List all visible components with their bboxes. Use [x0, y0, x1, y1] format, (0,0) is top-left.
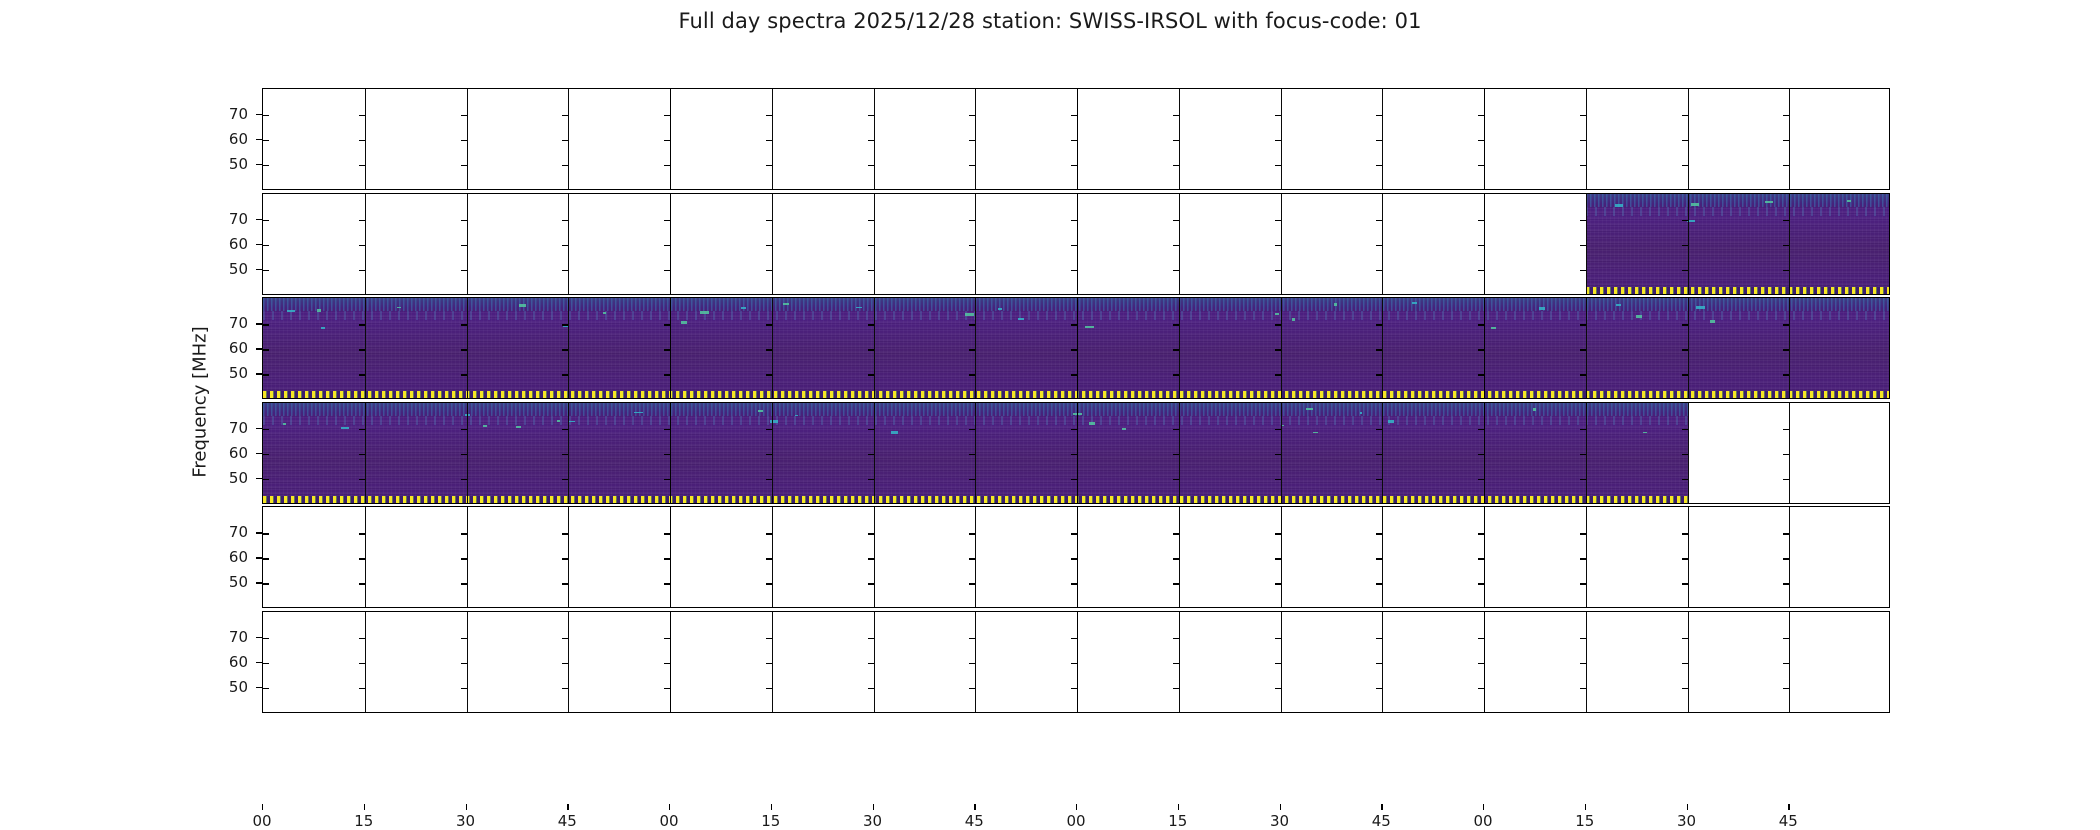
- y-tick-mark: [868, 583, 874, 584]
- y-tick-mark: [766, 688, 772, 689]
- y-tick-mark: [766, 270, 772, 271]
- y-tick-mark: [1478, 140, 1484, 141]
- y-tick-mark: [1682, 349, 1688, 350]
- y-tick-mark: [461, 165, 467, 166]
- y-tick-mark: [1478, 533, 1484, 534]
- cell-separator: [1484, 612, 1485, 712]
- y-tick-mark: [1783, 349, 1789, 350]
- y-tick-mark: [1478, 583, 1484, 584]
- cell-separator: [1382, 403, 1383, 503]
- spectral-burst-marker: [1275, 313, 1280, 316]
- spectral-burst-marker: [317, 309, 320, 312]
- y-tick-mark: [1071, 533, 1077, 534]
- y-tick-mark: [562, 638, 568, 639]
- y-tick-mark: [1478, 245, 1484, 246]
- y-tick-mark: [664, 583, 670, 584]
- y-tick-mark: [868, 349, 874, 350]
- cell-separator: [772, 89, 773, 189]
- cell-separator: [1789, 89, 1790, 189]
- cell-separator: [1586, 507, 1587, 607]
- spectral-burst-marker: [1533, 408, 1536, 410]
- y-tick-mark: [664, 374, 670, 375]
- y-tick-mark: [1682, 115, 1688, 116]
- y-tick-mark: [1580, 165, 1586, 166]
- y-tick-mark: [868, 558, 874, 559]
- cell-separator: [365, 194, 366, 294]
- y-tick-mark: [1275, 533, 1281, 534]
- cell-separator: [1688, 298, 1689, 398]
- cell-separator: [568, 507, 569, 607]
- cell-separator: [1281, 507, 1282, 607]
- y-tick-mark: [1580, 115, 1586, 116]
- y-tick-mark: [969, 220, 975, 221]
- cell-separator: [1179, 507, 1180, 607]
- y-tick-mark: [562, 324, 568, 325]
- y-tick-mark: [263, 270, 269, 271]
- spectral-burst-marker: [634, 412, 643, 413]
- y-tick-mark: [1071, 165, 1077, 166]
- cell-separator: [874, 194, 875, 294]
- y-tick-mark: [263, 115, 269, 116]
- cell-separator: [1281, 612, 1282, 712]
- y-tick-mark: [562, 688, 568, 689]
- cell-separator: [1688, 89, 1689, 189]
- spectral-burst-marker: [1360, 412, 1362, 414]
- y-tick-mark: [766, 324, 772, 325]
- y-tick-mark: [1682, 140, 1688, 141]
- y-tick-mark: [1478, 638, 1484, 639]
- x-tick-mark: [974, 804, 975, 810]
- cell-separator: [1382, 612, 1383, 712]
- y-tick-mark: [1275, 140, 1281, 141]
- y-tick-mark: [359, 140, 365, 141]
- y-tick-mark: [562, 115, 568, 116]
- y-tick-mark: [1173, 115, 1179, 116]
- y-tick-mark: [359, 270, 365, 271]
- y-tick-mark: [1275, 638, 1281, 639]
- y-tick-mark: [1173, 220, 1179, 221]
- y-tick-mark: [664, 115, 670, 116]
- y-tick-mark: [1478, 429, 1484, 430]
- cell-separator: [1179, 89, 1180, 189]
- spectral-burst-marker: [758, 410, 763, 412]
- secondary-band: [1586, 207, 1890, 216]
- y-tick-mark: [868, 374, 874, 375]
- x-tick-label: 00: [242, 812, 282, 830]
- spectral-burst-marker: [483, 425, 487, 427]
- y-tick-mark: [766, 663, 772, 664]
- y-tick-mark: [1783, 165, 1789, 166]
- cell-separator: [1077, 89, 1078, 189]
- spectral-burst-marker: [1710, 320, 1715, 322]
- cell-separator: [1586, 194, 1587, 294]
- y-tick-mark: [1275, 324, 1281, 325]
- cell-separator: [467, 298, 468, 398]
- x-tick-mark: [1687, 804, 1688, 810]
- y-tick-mark: [664, 479, 670, 480]
- spectral-burst-marker: [603, 312, 606, 314]
- y-tick-mark: [359, 638, 365, 639]
- cell-separator: [975, 403, 976, 503]
- cell-separator: [975, 507, 976, 607]
- y-tick-mark: [1173, 663, 1179, 664]
- y-tick-mark: [1478, 558, 1484, 559]
- spectral-burst-marker: [516, 426, 520, 427]
- y-tick-mark: [1173, 270, 1179, 271]
- cell-separator: [1077, 298, 1078, 398]
- y-tick-mark: [1275, 349, 1281, 350]
- cell-separator: [1688, 612, 1689, 712]
- y-tick-mark: [1376, 140, 1382, 141]
- y-tick-mark: [1376, 349, 1382, 350]
- y-tick-mark-outer: [256, 453, 262, 454]
- y-tick-label: 70: [208, 628, 248, 646]
- y-tick-label: 50: [208, 469, 248, 487]
- y-tick-mark: [1682, 270, 1688, 271]
- y-tick-mark: [359, 479, 365, 480]
- y-tick-mark-outer: [256, 637, 262, 638]
- y-tick-mark: [359, 349, 365, 350]
- cell-separator: [1586, 298, 1587, 398]
- y-tick-mark: [1376, 165, 1382, 166]
- y-tick-mark: [969, 454, 975, 455]
- y-tick-mark: [1071, 583, 1077, 584]
- cell-separator: [1789, 298, 1790, 398]
- y-tick-mark: [1275, 688, 1281, 689]
- y-tick-mark: [1173, 558, 1179, 559]
- cell-separator: [1077, 194, 1078, 294]
- spectral-burst-marker: [1388, 420, 1394, 423]
- cell-separator: [1382, 507, 1383, 607]
- y-tick-mark: [461, 374, 467, 375]
- y-tick-mark: [1682, 324, 1688, 325]
- cell-separator: [1382, 89, 1383, 189]
- y-tick-mark-outer: [256, 428, 262, 429]
- y-tick-mark: [1783, 688, 1789, 689]
- y-tick-mark: [263, 220, 269, 221]
- cell-separator: [467, 403, 468, 503]
- x-tick-mark: [1585, 804, 1586, 810]
- y-tick-mark: [1580, 349, 1586, 350]
- x-tick-label: 15: [1158, 812, 1198, 830]
- y-tick-mark: [664, 533, 670, 534]
- y-tick-mark: [1275, 429, 1281, 430]
- y-tick-mark: [969, 479, 975, 480]
- y-tick-mark: [1580, 429, 1586, 430]
- cell-separator: [874, 298, 875, 398]
- page-title: Full day spectra 2025/12/28 station: SWI…: [0, 9, 2100, 33]
- spectrogram-row: [262, 506, 1890, 608]
- x-tick-label: 00: [1463, 812, 1503, 830]
- plot-area: Frequency [MHz] 706050706050706050706050…: [262, 88, 1890, 716]
- spectral-burst-marker: [321, 327, 325, 329]
- cell-separator: [670, 612, 671, 712]
- y-tick-mark: [1275, 558, 1281, 559]
- y-tick-mark: [1376, 454, 1382, 455]
- y-tick-mark: [1783, 533, 1789, 534]
- cell-separator: [1789, 507, 1790, 607]
- spectrogram-row: [262, 193, 1890, 295]
- y-tick-mark: [1783, 583, 1789, 584]
- cell-separator: [1281, 89, 1282, 189]
- y-tick-mark: [1275, 454, 1281, 455]
- y-tick-mark: [1682, 220, 1688, 221]
- figure-canvas: Full day spectra 2025/12/28 station: SWI…: [0, 0, 2100, 800]
- y-tick-label: 50: [208, 260, 248, 278]
- y-tick-mark: [461, 558, 467, 559]
- y-tick-mark: [1275, 115, 1281, 116]
- y-tick-mark: [766, 479, 772, 480]
- cell-separator: [568, 194, 569, 294]
- y-tick-mark: [562, 349, 568, 350]
- spectral-burst-marker: [283, 423, 286, 425]
- y-tick-mark: [969, 688, 975, 689]
- y-tick-mark: [1071, 374, 1077, 375]
- y-tick-mark: [1783, 479, 1789, 480]
- spectral-burst-marker: [1615, 204, 1623, 207]
- y-tick-mark: [1783, 245, 1789, 246]
- y-tick-mark: [1783, 140, 1789, 141]
- spectral-burst-marker: [795, 415, 798, 416]
- cell-separator: [467, 612, 468, 712]
- y-tick-mark: [1478, 349, 1484, 350]
- y-tick-mark: [1275, 245, 1281, 246]
- y-tick-mark: [664, 270, 670, 271]
- y-tick-mark: [1071, 270, 1077, 271]
- y-tick-mark: [263, 140, 269, 141]
- y-tick-mark: [1478, 270, 1484, 271]
- spectral-burst-marker: [1089, 422, 1095, 425]
- y-tick-mark: [969, 115, 975, 116]
- y-tick-mark: [1478, 324, 1484, 325]
- cell-separator: [1688, 194, 1689, 294]
- cell-separator: [975, 612, 976, 712]
- y-tick-mark: [263, 638, 269, 639]
- y-tick-mark: [359, 688, 365, 689]
- y-tick-mark: [263, 324, 269, 325]
- high-frequency-band: [1586, 194, 1890, 207]
- y-tick-mark: [664, 638, 670, 639]
- spectral-burst-marker: [1306, 408, 1313, 409]
- y-tick-mark: [1580, 220, 1586, 221]
- y-tick-mark: [562, 583, 568, 584]
- y-tick-mark: [1580, 479, 1586, 480]
- y-tick-mark: [868, 429, 874, 430]
- y-tick-mark: [359, 115, 365, 116]
- cell-separator: [1586, 403, 1587, 503]
- y-tick-mark: [868, 663, 874, 664]
- cell-separator: [1688, 507, 1689, 607]
- y-tick-mark: [1682, 583, 1688, 584]
- cell-separator: [365, 89, 366, 189]
- spectral-burst-marker: [397, 307, 401, 309]
- y-tick-mark: [766, 115, 772, 116]
- cell-separator: [1484, 298, 1485, 398]
- y-tick-mark: [1580, 374, 1586, 375]
- y-tick-label: 70: [208, 210, 248, 228]
- cell-separator: [670, 298, 671, 398]
- y-tick-mark-outer: [256, 662, 262, 663]
- y-tick-mark: [263, 245, 269, 246]
- cell-separator: [365, 507, 366, 607]
- y-tick-mark: [1478, 479, 1484, 480]
- cell-separator: [670, 403, 671, 503]
- cell-separator: [772, 612, 773, 712]
- y-tick-mark: [1071, 349, 1077, 350]
- y-tick-mark: [1275, 220, 1281, 221]
- y-tick-mark: [766, 374, 772, 375]
- y-tick-mark: [868, 533, 874, 534]
- y-tick-mark: [461, 115, 467, 116]
- y-tick-mark: [868, 245, 874, 246]
- y-tick-mark: [562, 165, 568, 166]
- y-tick-mark: [1173, 454, 1179, 455]
- y-tick-mark: [868, 638, 874, 639]
- y-tick-mark: [766, 454, 772, 455]
- y-tick-mark: [868, 479, 874, 480]
- y-tick-mark: [1783, 270, 1789, 271]
- y-tick-mark: [461, 688, 467, 689]
- spectral-burst-marker: [1313, 432, 1318, 434]
- cell-separator: [1382, 298, 1383, 398]
- y-tick-label: 60: [208, 653, 248, 671]
- cell-separator: [568, 298, 569, 398]
- cell-separator: [1281, 194, 1282, 294]
- y-tick-mark: [263, 349, 269, 350]
- y-tick-mark: [461, 220, 467, 221]
- y-tick-mark: [263, 165, 269, 166]
- y-tick-mark: [1783, 324, 1789, 325]
- y-tick-mark: [969, 140, 975, 141]
- x-tick-mark: [1381, 804, 1382, 810]
- y-tick-mark: [969, 429, 975, 430]
- cell-separator: [772, 403, 773, 503]
- spectral-burst-marker: [1696, 306, 1705, 309]
- spectral-burst-marker: [569, 421, 575, 422]
- x-tick-mark: [873, 804, 874, 810]
- y-tick-mark: [1580, 324, 1586, 325]
- y-tick-mark: [263, 533, 269, 534]
- y-tick-mark: [1783, 429, 1789, 430]
- x-tick-label: 30: [1260, 812, 1300, 830]
- y-tick-mark: [1376, 638, 1382, 639]
- y-tick-mark: [1478, 454, 1484, 455]
- y-tick-mark: [1071, 454, 1077, 455]
- y-tick-mark: [1376, 688, 1382, 689]
- y-tick-mark-outer: [256, 244, 262, 245]
- y-tick-mark: [1376, 324, 1382, 325]
- y-tick-mark: [562, 270, 568, 271]
- x-tick-label: 30: [853, 812, 893, 830]
- y-tick-label: 70: [208, 523, 248, 541]
- calibration-strip: [1586, 287, 1890, 295]
- y-tick-mark: [461, 479, 467, 480]
- y-tick-label: 50: [208, 155, 248, 173]
- y-tick-mark: [359, 533, 365, 534]
- x-tick-mark: [1788, 804, 1789, 810]
- x-tick-label: 45: [954, 812, 994, 830]
- x-tick-label: 45: [1361, 812, 1401, 830]
- y-tick-mark: [461, 429, 467, 430]
- y-tick-mark: [969, 583, 975, 584]
- y-tick-mark: [1580, 663, 1586, 664]
- y-tick-mark: [1275, 663, 1281, 664]
- y-tick-mark: [1580, 638, 1586, 639]
- x-tick-mark: [771, 804, 772, 810]
- y-tick-mark: [263, 454, 269, 455]
- y-tick-mark: [1783, 220, 1789, 221]
- spectral-burst-marker: [1539, 307, 1545, 310]
- y-tick-mark: [1275, 479, 1281, 480]
- y-tick-mark: [1783, 558, 1789, 559]
- cell-separator: [1179, 194, 1180, 294]
- y-tick-mark: [1783, 663, 1789, 664]
- y-tick-mark: [1580, 533, 1586, 534]
- cell-separator: [1688, 403, 1689, 503]
- y-tick-mark: [766, 558, 772, 559]
- y-tick-label: 60: [208, 339, 248, 357]
- cell-separator: [874, 403, 875, 503]
- y-tick-mark: [664, 429, 670, 430]
- y-tick-mark: [1173, 140, 1179, 141]
- spectrogram-row: [262, 88, 1890, 190]
- spectrogram-row: [262, 297, 1890, 399]
- y-tick-mark: [1376, 558, 1382, 559]
- y-tick-mark: [969, 663, 975, 664]
- y-tick-mark: [562, 663, 568, 664]
- y-tick-mark: [766, 638, 772, 639]
- y-tick-label: 60: [208, 235, 248, 253]
- x-tick-label: 15: [1565, 812, 1605, 830]
- y-tick-mark: [461, 533, 467, 534]
- y-tick-mark: [868, 688, 874, 689]
- cell-separator: [365, 612, 366, 712]
- cell-separator: [975, 89, 976, 189]
- y-tick-mark: [1275, 374, 1281, 375]
- y-tick-mark: [766, 140, 772, 141]
- x-tick-label: 15: [344, 812, 384, 830]
- x-tick-mark: [364, 804, 365, 810]
- y-tick-mark: [1376, 663, 1382, 664]
- cell-separator: [874, 89, 875, 189]
- y-tick-mark: [766, 245, 772, 246]
- y-tick-label: 50: [208, 678, 248, 696]
- x-tick-label: 30: [1667, 812, 1707, 830]
- y-tick-mark: [1173, 324, 1179, 325]
- y-tick-mark: [1376, 429, 1382, 430]
- spectral-burst-marker: [681, 321, 686, 324]
- y-tick-mark: [359, 558, 365, 559]
- y-tick-mark: [868, 115, 874, 116]
- y-tick-mark: [263, 374, 269, 375]
- y-tick-mark: [461, 349, 467, 350]
- y-tick-mark: [562, 220, 568, 221]
- y-tick-mark: [868, 140, 874, 141]
- y-tick-mark-outer: [256, 219, 262, 220]
- cell-separator: [467, 194, 468, 294]
- y-tick-mark: [1682, 429, 1688, 430]
- y-tick-label: 60: [208, 130, 248, 148]
- y-tick-mark: [664, 558, 670, 559]
- cell-separator: [1484, 89, 1485, 189]
- y-tick-mark: [359, 374, 365, 375]
- y-tick-mark: [1580, 688, 1586, 689]
- cell-separator: [365, 403, 366, 503]
- cell-separator: [568, 89, 569, 189]
- y-tick-mark: [969, 165, 975, 166]
- cell-separator: [975, 298, 976, 398]
- y-tick-mark: [766, 533, 772, 534]
